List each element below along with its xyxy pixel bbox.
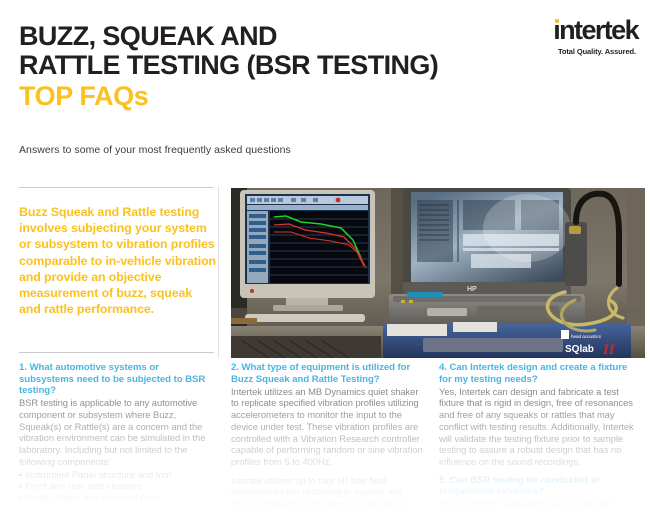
- page-header: BUZZ, SQUEAK AND RATTLE TESTING (BSR TES…: [0, 0, 650, 180]
- intro-bottom-divider: [19, 352, 214, 353]
- faq-question-4: 4. Can Intertek design and create a fixt…: [439, 362, 639, 385]
- page-title-line-2: RATTLE TESTING (BSR TESTING): [19, 51, 489, 80]
- faq-question-1: 1. What automotive systems or subsystems…: [19, 362, 215, 397]
- faq-bullet-list-1: Instrument Panel structure and trim Fron…: [19, 469, 215, 504]
- vertical-divider: [218, 186, 219, 358]
- faq-column-3: 4. Can Intertek design and create a fixt…: [439, 362, 639, 520]
- logo-wordmark: intertek: [553, 16, 638, 45]
- svg-text:SQlab: SQlab: [565, 344, 594, 355]
- list-item: Seats - Static and powered units: [19, 492, 215, 504]
- page-title-accent: TOP FAQs: [19, 81, 489, 112]
- svg-text:head acoustics: head acoustics: [571, 334, 602, 339]
- logo-dot-icon: [555, 19, 559, 23]
- logo-tagline: Total Quality. Assured.: [553, 47, 636, 56]
- page-subtitle: Answers to some of your most frequently …: [19, 144, 291, 156]
- faq-answer-5: Yes, most BSR evaluations are conducted: [439, 498, 639, 510]
- faq-question-5: 5. Can BSR testing be conducted at tempe…: [439, 475, 639, 498]
- faq-page: BUZZ, SQUEAK AND RATTLE TESTING (BSR TES…: [0, 0, 650, 520]
- faq-column-1: 1. What automotive systems or subsystems…: [19, 362, 215, 520]
- faq-answer-2-cont: Intertek utilizes up to four (4) free fi…: [231, 475, 427, 510]
- faq-columns: 1. What automotive systems or subsystems…: [0, 362, 650, 520]
- page-title-line-1: BUZZ, SQUEAK AND: [19, 22, 489, 51]
- faq-answer-1: BSR testing is applicable to any automot…: [19, 397, 215, 467]
- svg-text:II: II: [602, 342, 616, 358]
- logo-wordmark-text: intertek: [553, 15, 638, 45]
- intertek-logo: intertek Total Quality. Assured.: [553, 16, 638, 56]
- page-title: BUZZ, SQUEAK AND RATTLE TESTING (BSR TES…: [19, 22, 489, 112]
- list-item: Front and rear side closures: [19, 480, 215, 492]
- faq-answer-2: Intertek utilizes an MB Dynamics quiet s…: [231, 386, 427, 468]
- faq-question-2: 2. What type of equipment is utilized fo…: [231, 362, 427, 385]
- faq-column-2: 2. What type of equipment is utilized fo…: [231, 362, 427, 520]
- intro-paragraph: Buzz Squeak and Rattle testing involves …: [19, 204, 217, 317]
- svg-text:HP: HP: [467, 286, 477, 293]
- lab-equipment-photo: HP head acoustics SQlab II: [231, 188, 645, 358]
- lab-photo-illustration: HP head acoustics SQlab II: [231, 188, 645, 358]
- faq-answer-4: Yes, Intertek can design and fabricate a…: [439, 386, 639, 468]
- intro-top-divider: [19, 187, 214, 188]
- list-item: Instrument Panel structure and trim: [19, 469, 215, 481]
